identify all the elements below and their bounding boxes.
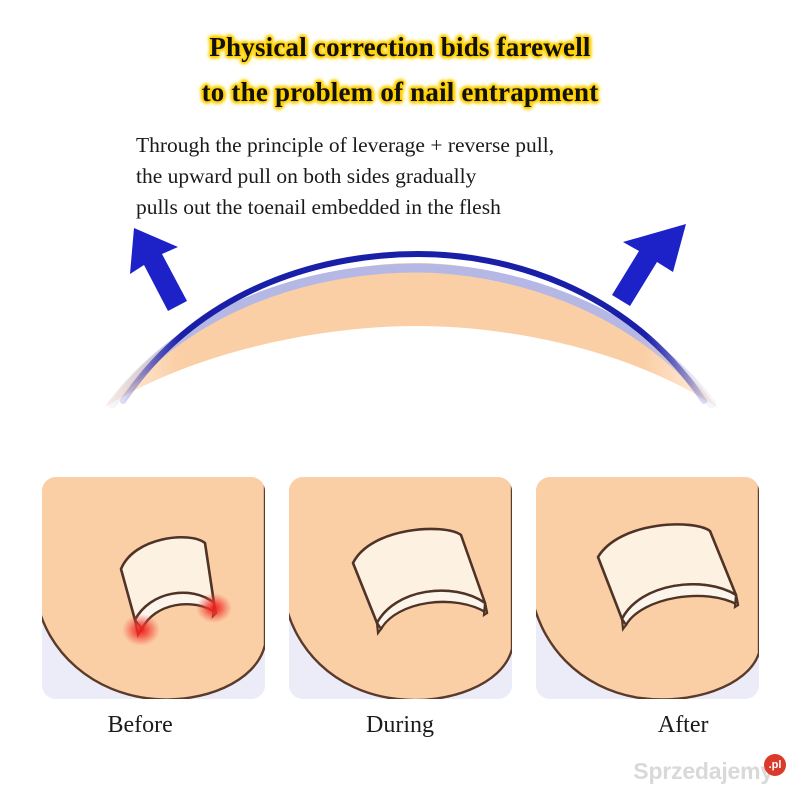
caption-after: After xyxy=(536,708,759,748)
caption-during: During xyxy=(289,708,512,748)
watermark-text: Sprzedajemy xyxy=(633,760,773,783)
page-title: Physical correction bids farewell to the… xyxy=(0,28,800,118)
caption-before: Before xyxy=(42,708,265,748)
description-line-1: Through the principle of leverage + reve… xyxy=(136,130,696,161)
stage-after xyxy=(536,477,759,699)
stage-panels xyxy=(0,477,800,699)
description-paragraph: Through the principle of leverage + reve… xyxy=(136,130,696,223)
watermark-badge: .pl xyxy=(764,754,786,776)
stage-captions: Before During After xyxy=(0,708,800,748)
leverage-arch-diagram xyxy=(96,218,726,413)
left-pull-arrow xyxy=(130,228,187,311)
description-line-2: the upward pull on both sides gradually xyxy=(136,161,696,192)
stage-before xyxy=(42,477,265,699)
right-pull-arrow xyxy=(612,224,686,306)
title-line-2: to the problem of nail entrapment xyxy=(0,73,800,111)
title-line-1: Physical correction bids farewell xyxy=(0,28,800,66)
inflammation-right xyxy=(196,593,232,623)
inflammation-left xyxy=(122,614,160,646)
stage-during xyxy=(289,477,512,699)
watermark: Sprzedajemy .pl xyxy=(633,756,786,786)
